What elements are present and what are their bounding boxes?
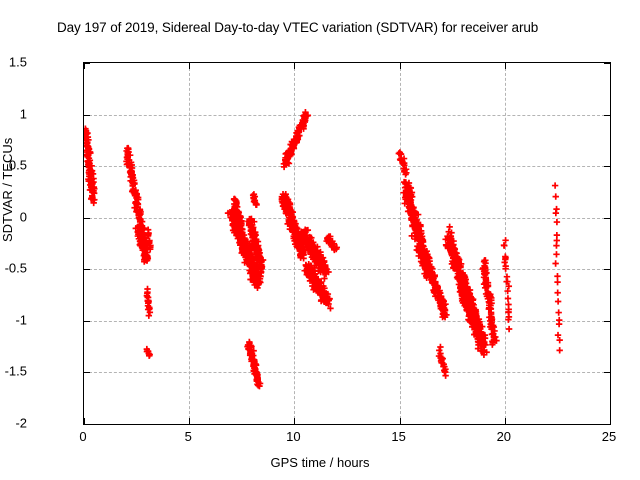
y-tick-right bbox=[604, 269, 610, 270]
x-tick-top bbox=[294, 63, 295, 69]
x-tick bbox=[505, 418, 506, 424]
y-tick-label: 1 bbox=[20, 106, 27, 121]
x-tick bbox=[400, 418, 401, 424]
y-tick-label: 0 bbox=[20, 209, 27, 224]
y-tick-right bbox=[604, 321, 610, 322]
y-tick-label: 1.5 bbox=[9, 55, 27, 70]
x-axis-title: GPS time / hours bbox=[0, 455, 640, 470]
y-tick bbox=[84, 166, 90, 167]
y-tick-right bbox=[604, 424, 610, 425]
y-tick bbox=[84, 372, 90, 373]
gridline-vertical bbox=[294, 63, 295, 424]
gridline-horizontal bbox=[84, 115, 610, 116]
y-axis-title: SDTVAR / TECUs bbox=[0, 138, 15, 242]
chart-root: Day 197 of 2019, Sidereal Day-to-day VTE… bbox=[0, 0, 640, 480]
chart-title: Day 197 of 2019, Sidereal Day-to-day VTE… bbox=[57, 20, 538, 35]
x-tick bbox=[189, 418, 190, 424]
y-tick-label: -0.5 bbox=[5, 261, 27, 276]
x-tick-top bbox=[400, 63, 401, 69]
y-tick-label: -2 bbox=[15, 416, 27, 431]
y-tick bbox=[84, 218, 90, 219]
y-tick-right bbox=[604, 218, 610, 219]
y-tick-label: -1 bbox=[15, 312, 27, 327]
scatter-markers bbox=[84, 63, 610, 424]
plot-area bbox=[83, 62, 611, 425]
gridline-vertical bbox=[505, 63, 506, 424]
x-tick-top bbox=[610, 63, 611, 69]
x-tick-label: 25 bbox=[602, 429, 616, 444]
gridline-vertical bbox=[189, 63, 190, 424]
x-tick-top bbox=[84, 63, 85, 69]
plot-inner bbox=[84, 63, 610, 424]
gridline-vertical bbox=[400, 63, 401, 424]
gridline-horizontal bbox=[84, 372, 610, 373]
x-tick-label: 15 bbox=[391, 429, 405, 444]
y-tick-right bbox=[604, 115, 610, 116]
x-tick-top bbox=[505, 63, 506, 69]
gridline-horizontal bbox=[84, 321, 610, 322]
gridline-horizontal bbox=[84, 218, 610, 219]
y-tick-label: 0.5 bbox=[9, 158, 27, 173]
x-tick-top bbox=[189, 63, 190, 69]
y-tick bbox=[84, 115, 90, 116]
x-tick-label: 20 bbox=[497, 429, 511, 444]
x-tick-label: 5 bbox=[185, 429, 192, 444]
gridline-horizontal bbox=[84, 269, 610, 270]
y-tick bbox=[84, 269, 90, 270]
x-tick bbox=[294, 418, 295, 424]
x-tick bbox=[84, 418, 85, 424]
y-tick bbox=[84, 424, 90, 425]
x-tick-label: 10 bbox=[286, 429, 300, 444]
gridline-horizontal bbox=[84, 166, 610, 167]
y-tick-right bbox=[604, 372, 610, 373]
y-tick bbox=[84, 321, 90, 322]
y-tick-right bbox=[604, 166, 610, 167]
x-tick-label: 0 bbox=[79, 429, 86, 444]
x-tick bbox=[610, 418, 611, 424]
y-tick-label: -1.5 bbox=[5, 364, 27, 379]
